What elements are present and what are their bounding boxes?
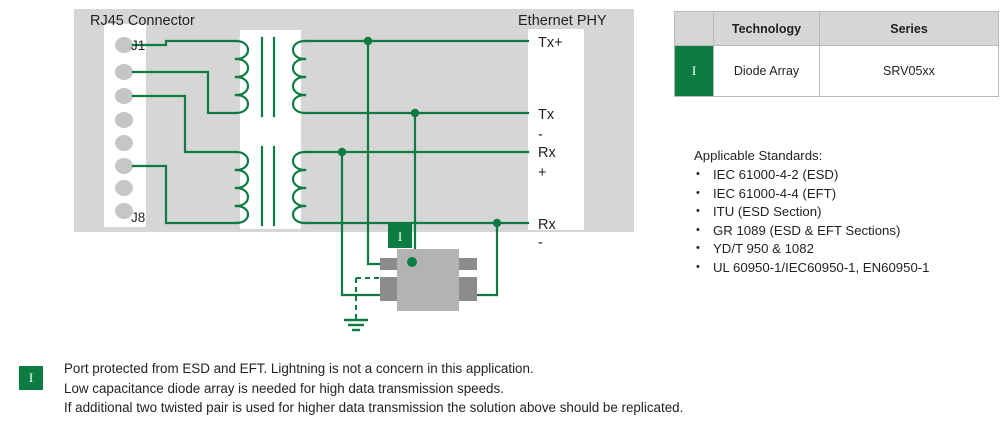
- package-pin1-dot: [407, 257, 417, 267]
- footnote-line: Low capacitance diode array is needed fo…: [64, 379, 683, 399]
- list-item: GR 1089 (ESD & EFT Sections): [694, 222, 994, 241]
- footnote-block: I Port protected from ESD and EFT. Light…: [19, 359, 683, 418]
- table-header-marker: [675, 12, 714, 46]
- list-item: YD/T 950 & 1082: [694, 240, 994, 259]
- list-item: UL 60950-1/IEC60950-1, EN60950-1: [694, 259, 994, 278]
- phy-pin-rx-minus-sign: -: [538, 235, 543, 251]
- list-item: IEC 61000-4-2 (ESD): [694, 166, 994, 185]
- rj45-connector-title: RJ45 Connector: [90, 13, 195, 29]
- table-row: I Diode Array SRV05xx: [675, 46, 999, 97]
- diode-array-package: [380, 249, 477, 311]
- table-cell-marker: I: [675, 46, 714, 97]
- phy-pin-rx-minus: Rx: [538, 217, 556, 233]
- table-header-series: Series: [820, 12, 999, 46]
- phy-pin-rx-plus-sign: +: [538, 165, 546, 181]
- footnote-text: Port protected from ESD and EFT. Lightni…: [64, 359, 683, 418]
- standards-list: IEC 61000-4-2 (ESD) IEC 61000-4-4 (EFT) …: [694, 166, 994, 277]
- footnote-line: If additional two twisted pair is used f…: [64, 398, 683, 418]
- list-item: ITU (ESD Section): [694, 203, 994, 222]
- rj45-pin-first-label: J1: [131, 38, 145, 53]
- phy-pin-rx-plus: Rx: [538, 145, 556, 161]
- ethernet-phy-title: Ethernet PHY: [518, 13, 607, 29]
- phy-pin-tx-plus: Tx+: [538, 35, 563, 51]
- ground-symbol: [344, 320, 368, 330]
- rj45-pin-last-label: J8: [131, 210, 145, 225]
- phy-pin-tx-minus-sign: -: [538, 127, 543, 143]
- transformer-body: [240, 30, 301, 229]
- table-header-technology: Technology: [714, 12, 820, 46]
- footnote-line: Port protected from ESD and EFT. Lightni…: [64, 359, 683, 379]
- footnote-marker-badge: I: [19, 366, 43, 390]
- part-selection-table: Technology Series I Diode Array SRV05xx: [674, 11, 999, 97]
- table-cell-technology: Diode Array: [714, 46, 820, 97]
- standards-title: Applicable Standards:: [694, 147, 994, 165]
- phy-pin-tx-minus: Tx: [538, 107, 555, 123]
- ground-net: [356, 278, 380, 320]
- table-cell-series: SRV05xx: [820, 46, 999, 97]
- ethernet-phy-body: [528, 29, 584, 230]
- list-item: IEC 61000-4-4 (EFT): [694, 185, 994, 204]
- schematic-marker-badge: I: [388, 224, 412, 248]
- schematic-marker-letter: I: [398, 229, 402, 244]
- circuit-schematic: I RJ45 Connector Ethernet PHY J1 J8 Tx+ …: [0, 0, 660, 345]
- applicable-standards: Applicable Standards: IEC 61000-4-2 (ESD…: [694, 147, 994, 277]
- table-header-row: Technology Series: [675, 12, 999, 46]
